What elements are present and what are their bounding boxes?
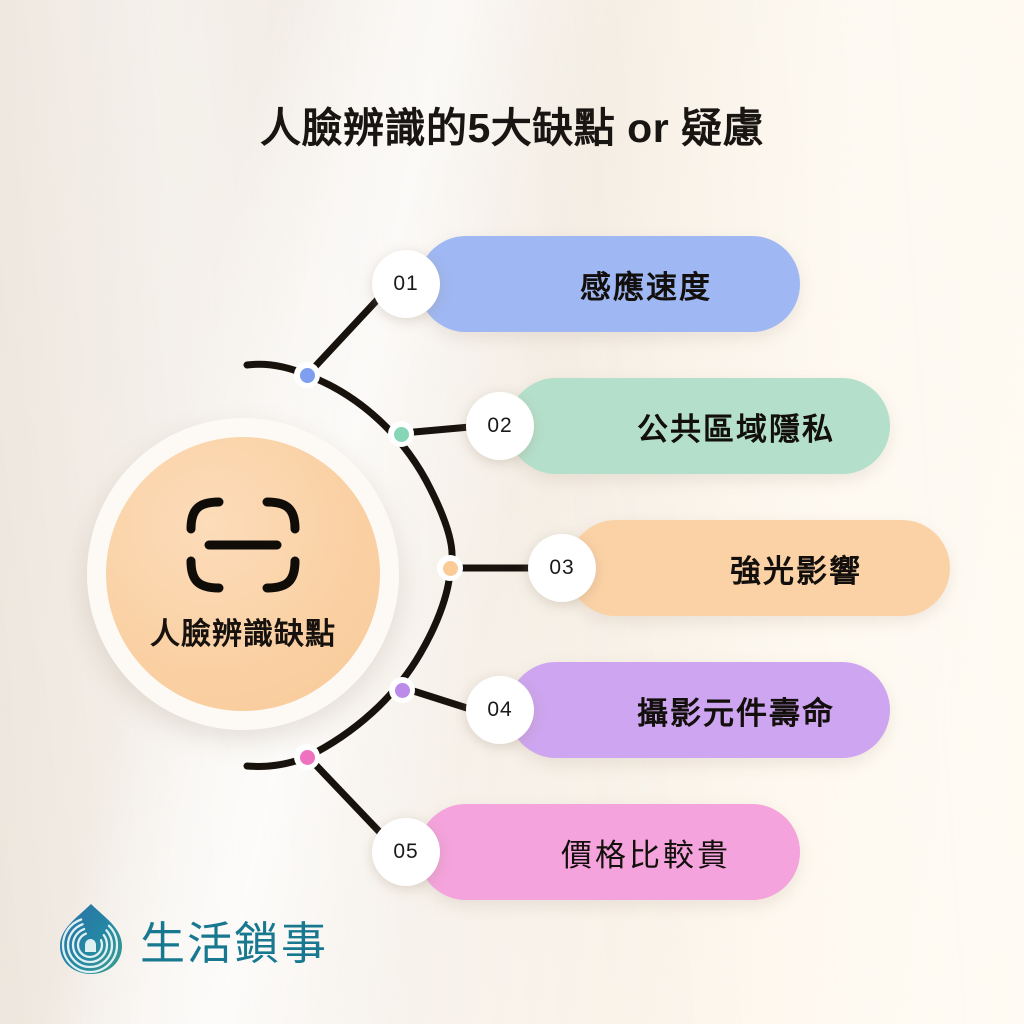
- hub-circle: 人臉辨識缺點: [106, 437, 380, 711]
- item-number-05[interactable]: 05: [372, 818, 440, 886]
- item-number-02[interactable]: 02: [466, 392, 534, 460]
- item-label-03: 強光影響: [656, 546, 862, 591]
- item-pill-05[interactable]: 價格比較貴: [418, 804, 800, 900]
- item-pill-01[interactable]: 感應速度: [418, 236, 800, 332]
- item-label-02: 公共區域隱私: [563, 404, 835, 449]
- brand-logo[interactable]: 生活鎖事: [52, 900, 328, 978]
- connector-node-05: [294, 744, 320, 770]
- item-label-05: 價格比較貴: [487, 830, 731, 875]
- item-label-01: 感應速度: [506, 262, 712, 307]
- item-number-03[interactable]: 03: [528, 534, 596, 602]
- brand-name: 生活鎖事: [140, 907, 328, 972]
- item-pill-03[interactable]: 強光影響: [568, 520, 950, 616]
- item-pill-04[interactable]: 攝影元件壽命: [508, 662, 890, 758]
- face-scan-icon: [181, 493, 305, 597]
- connector-node-03: [437, 555, 463, 581]
- item-number-01[interactable]: 01: [372, 250, 440, 318]
- connector-node-04: [389, 677, 415, 703]
- hub-label: 人臉辨識缺點: [106, 609, 380, 653]
- connector-node-01: [294, 362, 320, 388]
- page-title: 人臉辨識的5大缺點 or 疑慮: [0, 94, 1024, 154]
- item-label-04: 攝影元件壽命: [563, 688, 835, 733]
- infographic-canvas: 人臉辨識的5大缺點 or 疑慮 人臉辨: [0, 0, 1024, 1024]
- fingerprint-droplet-icon: [52, 900, 130, 978]
- connector-node-02: [388, 421, 414, 447]
- item-number-04[interactable]: 04: [466, 676, 534, 744]
- item-pill-02[interactable]: 公共區域隱私: [508, 378, 890, 474]
